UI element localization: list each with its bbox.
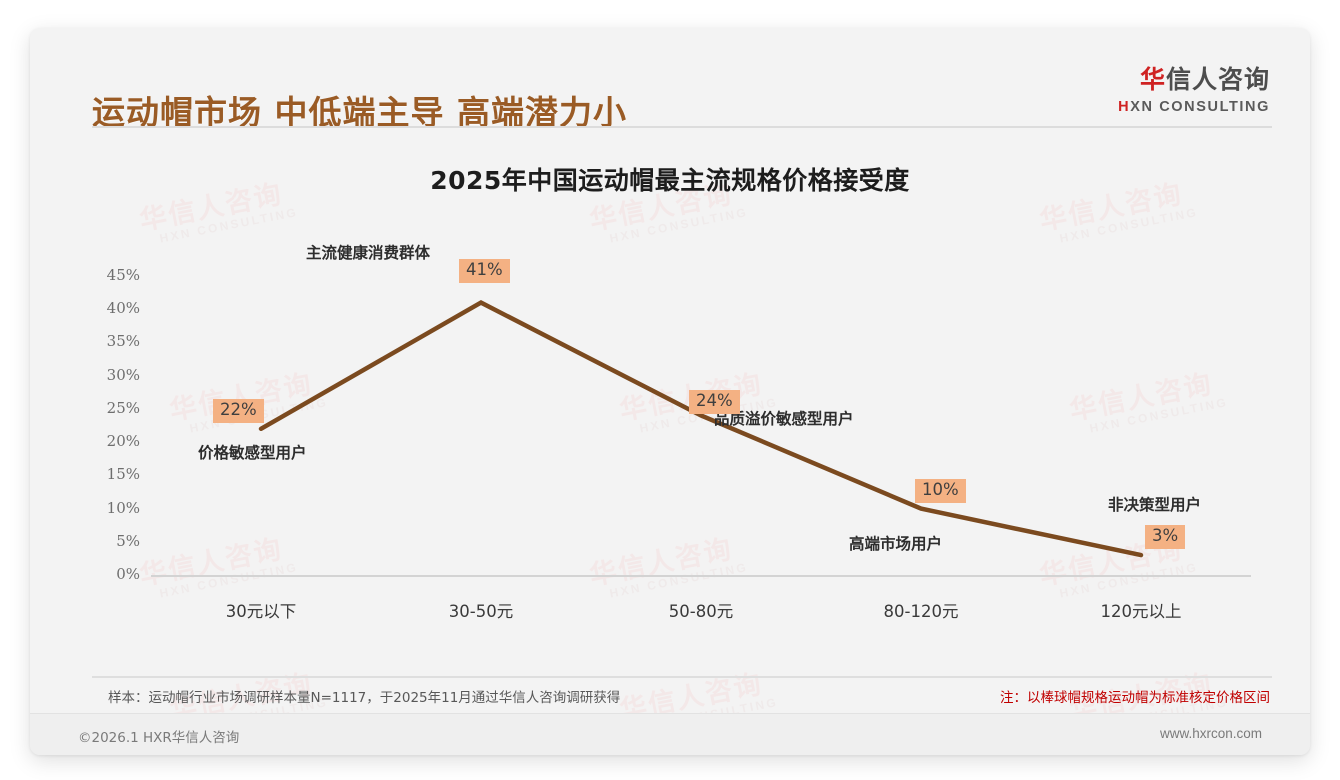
brand-cn-accent: 华: [1140, 65, 1166, 94]
note-highlight: 注：以棒球帽规格运动帽为标准核定价格区间: [1000, 686, 1270, 706]
header-divider: [92, 126, 1272, 128]
data-point-value-label: 41%: [459, 259, 510, 283]
data-point-value-label: 24%: [689, 390, 740, 414]
sample-note: 样本：运动帽行业市场调研样本量N=1117，于2025年11月通过华信人咨询调研…: [108, 686, 620, 706]
slide-header: 运动帽市场 中低端主导 高端潜力小 华信人咨询 HXN CONSULTING: [30, 28, 1310, 120]
brand-logo: 华信人咨询 HXN CONSULTING: [1118, 60, 1270, 115]
data-point-value-label: 10%: [915, 479, 966, 503]
data-point-annotation: 主流健康消费群体: [306, 241, 430, 263]
data-point-annotation: 高端市场用户: [849, 532, 942, 554]
data-point-annotation: 价格敏感型用户: [198, 441, 307, 463]
copyright-text: ©2026.1 HXR华信人咨询: [78, 726, 239, 746]
brand-cn-rest: 信人咨询: [1166, 65, 1270, 94]
x-tick-label: 30元以下: [166, 598, 356, 622]
x-tick-label: 50-80元: [606, 598, 796, 622]
x-tick-label: 80-120元: [826, 598, 1016, 622]
series-polyline: [261, 303, 1141, 555]
slide-card: 华信人咨询HXN CONSULTING华信人咨询HXN CONSULTING华信…: [30, 28, 1310, 755]
brand-name-en: HXN CONSULTING: [1118, 99, 1270, 115]
brand-en-accent: H: [1118, 99, 1130, 115]
data-point-value-label: 3%: [1145, 525, 1185, 549]
footer-bar: ©2026.1 HXR华信人咨询 www.hxrcon.com: [30, 713, 1310, 755]
brand-name-cn: 华信人咨询: [1118, 60, 1270, 96]
footnote-divider: [92, 676, 1272, 678]
chart-title: 2025年中国运动帽最主流规格价格接受度: [30, 161, 1310, 197]
x-tick-label: 120元以上: [1046, 598, 1236, 622]
data-point-value-label: 22%: [213, 399, 264, 423]
data-point-annotation: 非决策型用户: [1108, 493, 1201, 515]
brand-en-rest: XN CONSULTING: [1130, 99, 1270, 115]
website-text: www.hxrcon.com: [1160, 726, 1262, 741]
x-tick-label: 30-50元: [386, 598, 576, 622]
